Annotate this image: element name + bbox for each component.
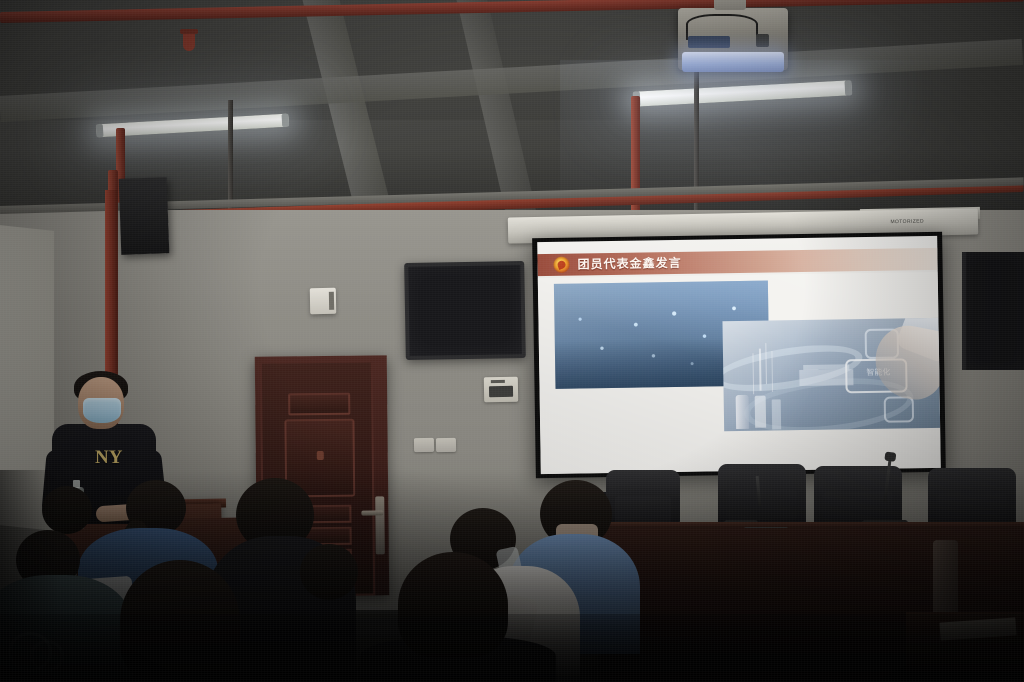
projection-screen: 团员代表金鑫发言 智能化 <box>532 232 946 478</box>
projection-screen-surface: 团员代表金鑫发言 智能化 <box>537 236 941 474</box>
audience-member-6-head <box>398 552 508 658</box>
housing-brand-label: MOTORIZED <box>890 219 924 226</box>
photo-scene: MOTORIZED 团员代表金鑫发言 <box>0 0 1024 682</box>
audience-member-2-head <box>42 486 92 534</box>
door-lock-plate <box>375 496 385 554</box>
fire-sprinkler-head-icon <box>183 34 195 51</box>
door-handle[interactable] <box>361 510 383 515</box>
power-outlet[interactable] <box>436 438 456 452</box>
power-outlet[interactable] <box>414 438 434 452</box>
projector-mount <box>714 0 746 10</box>
ceiling-speaker <box>119 177 170 255</box>
audience-member-4-head <box>120 560 240 682</box>
presentation-slide: 团员代表金鑫发言 智能化 <box>537 236 941 474</box>
smoke-detector-icon <box>310 288 336 314</box>
chair-1[interactable] <box>606 470 680 524</box>
hud-square-icon <box>884 396 914 422</box>
slide-body: 智能化 <box>538 272 941 474</box>
shirt-graphic <box>30 640 64 672</box>
wall-display-left <box>404 261 526 360</box>
ceiling-projector <box>678 8 788 70</box>
av-control-panel[interactable] <box>484 377 518 403</box>
chair-4[interactable] <box>928 468 1016 530</box>
audience-member-9-head <box>300 544 358 600</box>
slide-image-petroleum-digital-technology: 智能化 <box>722 318 940 431</box>
slide-title: 团员代表金鑫发言 <box>577 255 681 273</box>
projector-knob <box>756 34 769 47</box>
communist-youth-league-emblem-icon <box>553 257 569 273</box>
chair-2[interactable] <box>718 464 806 526</box>
projector-lens <box>682 52 784 72</box>
wall-display-right <box>962 252 1024 370</box>
door-panel <box>288 393 350 416</box>
door-peephole-icon <box>317 451 324 460</box>
projector-vent <box>688 36 730 48</box>
ny-shirt-logo: NY <box>95 448 113 470</box>
presenter-face-mask <box>83 398 121 423</box>
storage-tank-icon <box>736 395 750 429</box>
